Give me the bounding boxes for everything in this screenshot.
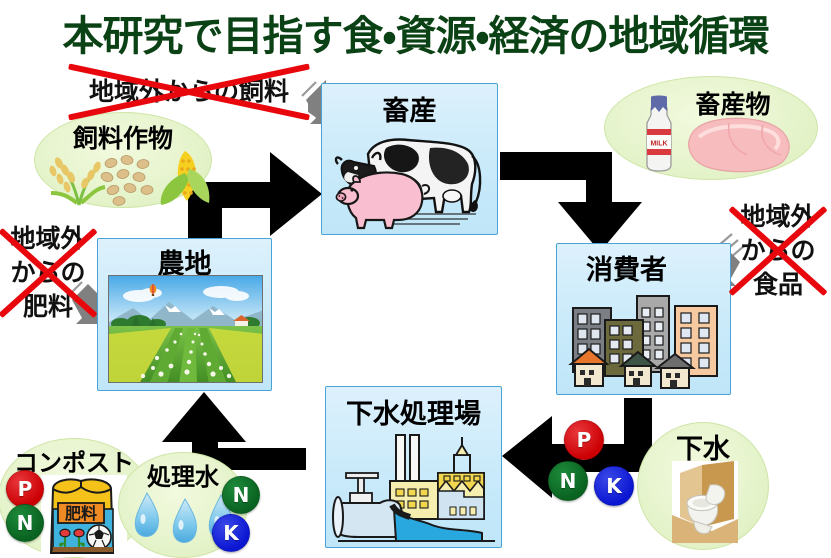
fertilizer-bag-illustration: 肥料 xyxy=(41,475,127,557)
livestock-illustration xyxy=(326,120,495,234)
external-input-food-outside-label: 地域外 からの 食品 xyxy=(730,200,826,302)
chip-sewage-p-label: P xyxy=(577,428,592,452)
node-sewage-plant-label: 下水処理場 xyxy=(326,392,501,431)
chip-compost-n-label: N xyxy=(17,511,34,535)
farmland-photo xyxy=(108,275,263,383)
fertilizer-bag-label: 肥料 xyxy=(65,504,97,523)
chip-treated-water-n-label: N xyxy=(233,483,250,507)
external-input-food-outside: 地域外 からの 食品 xyxy=(730,200,826,302)
node-feed-crops[interactable]: 飼料作物 xyxy=(34,112,212,208)
chip-compost-p-label: P xyxy=(18,477,33,501)
chip-treated-water-k: K xyxy=(212,514,250,552)
node-livestock[interactable]: 畜産 xyxy=(321,83,498,235)
chip-sewage-k-label: K xyxy=(606,474,622,498)
node-livestock-products[interactable]: 畜産物 MILK xyxy=(604,76,818,180)
chip-sewage-n: N xyxy=(548,461,588,501)
consumers-illustration xyxy=(565,286,725,390)
node-farmland[interactable]: 農地 xyxy=(97,238,272,391)
node-consumers-label: 消費者 xyxy=(557,248,730,287)
sewage-plant-illustration xyxy=(334,431,495,543)
chip-sewage-p: P xyxy=(564,420,604,460)
svg-text:MILK: MILK xyxy=(650,141,667,148)
external-input-feed-outside: 地域外からの飼料 xyxy=(78,74,300,110)
chip-sewage-n-label: N xyxy=(560,469,577,493)
livestock-products-illustration: MILK xyxy=(629,93,801,175)
chip-compost-p: P xyxy=(6,470,44,508)
external-input-feed-outside-label: 地域外からの飼料 xyxy=(78,74,300,110)
chip-sewage-k: K xyxy=(594,466,634,506)
node-sewage-plant[interactable]: 下水処理場 xyxy=(325,386,502,548)
external-input-fertilizer-outside: 地域外 からの 肥料 xyxy=(0,222,96,324)
chip-treated-water-k-label: K xyxy=(223,521,239,545)
node-consumers[interactable]: 消費者 xyxy=(556,243,731,395)
chip-treated-water-n: N xyxy=(222,476,260,514)
toilet-illustration xyxy=(672,461,738,543)
external-input-fertilizer-outside-label: 地域外 からの 肥料 xyxy=(0,222,96,324)
node-sewage[interactable]: 下水 xyxy=(637,422,769,550)
feed-crops-illustration xyxy=(39,143,211,207)
chip-compost-n: N xyxy=(6,504,44,542)
page-title: 本研究で目指す食・資源・経済の地域循環 xyxy=(0,2,831,62)
diagram-canvas: 本研究で目指す食・資源・経済の地域循環 xyxy=(0,0,831,558)
